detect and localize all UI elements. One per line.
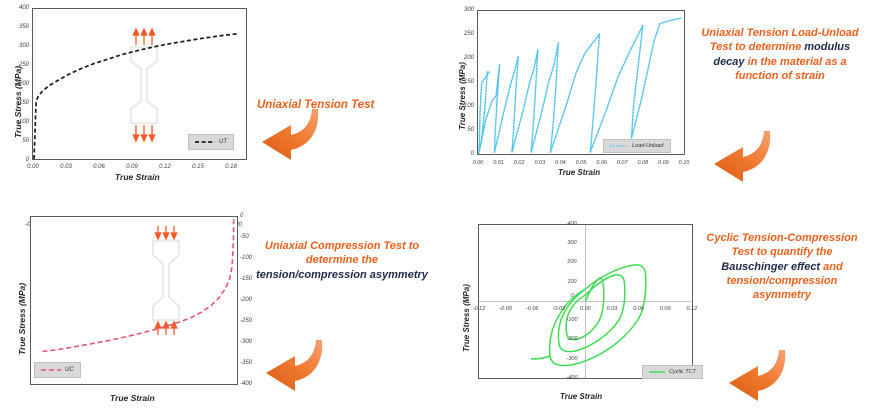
xtick: 0.18	[225, 164, 237, 170]
ytick: 200	[567, 259, 576, 265]
annot-part: tension/compression asymmetry	[256, 269, 428, 281]
ytick: 50	[460, 127, 474, 133]
ytick: 250	[15, 62, 29, 68]
annotation-bottom-left-text: Uniaxial Compression Test to determine t…	[252, 239, 432, 282]
panel-load-unload: True Stress (MPa) 300 250 200 150 100 50…	[440, 0, 870, 207]
ytick: 100	[460, 103, 474, 109]
legend-label: Cyclic TCT	[669, 369, 696, 375]
legend-line-swatch	[610, 144, 628, 148]
compression-specimen-icon	[153, 241, 179, 320]
legend-ut[interactable]: UT	[188, 134, 234, 150]
curved-arrow-icon	[262, 337, 328, 393]
xtick: 0.15	[192, 164, 204, 170]
ytick: -100	[566, 317, 577, 323]
ytick: -300	[566, 356, 577, 362]
panel-cyclic-tct: True Stress (MPa) 400 300 200 100 0 -100…	[440, 207, 870, 420]
ytick: -50	[240, 234, 249, 240]
xtick: 0.09	[658, 160, 669, 166]
ytick: 200	[460, 55, 474, 61]
ytick: 50	[15, 138, 29, 144]
legend-cyclic[interactable]: Cyclic TCT	[642, 365, 703, 379]
xtick: 0.05	[576, 160, 587, 166]
ytick: 300	[460, 7, 474, 13]
plot-area-top-right	[477, 10, 685, 155]
xlabel-bottom-right: True Strain	[560, 392, 602, 401]
ytick: -150	[240, 276, 252, 282]
xtick: 0.09	[126, 164, 138, 170]
uc-curve-svg	[31, 217, 237, 384]
ytick: 150	[460, 79, 474, 85]
legend-label: UC	[65, 367, 74, 373]
xlabel-top-right: True Strain	[558, 168, 600, 177]
legend-load-unload[interactable]: Load-Unload	[603, 139, 671, 153]
xtick: 0.06	[596, 160, 607, 166]
ytick: 0	[460, 151, 474, 157]
ytick: -100	[240, 255, 252, 261]
xtick: 0.12	[686, 306, 697, 312]
ytick: -350	[240, 360, 252, 366]
xtick: -0.12	[473, 306, 486, 312]
xtick: 0.02	[514, 160, 525, 166]
ytick: -400	[566, 375, 577, 381]
annotation-top-right: Uniaxial Tension Load-Unload Test to det…	[696, 26, 864, 83]
plot-area-bottom-left	[30, 216, 238, 385]
ytick: -400	[240, 381, 252, 387]
xtick: 0.06	[93, 164, 105, 170]
ytick: 300	[15, 43, 29, 49]
xtick: 0.00	[580, 306, 591, 312]
xtick: 0.09	[660, 306, 671, 312]
xtick: 0.06	[633, 306, 644, 312]
xtick: -0.03	[553, 306, 566, 312]
curved-arrow-icon	[258, 106, 324, 162]
annot-part: to determine	[735, 41, 804, 53]
xtick: 0.10	[679, 160, 690, 166]
legend-label: Load-Unload	[632, 143, 664, 149]
xtick: -0.06	[526, 306, 539, 312]
ytick: -300	[240, 339, 252, 345]
panel-uniaxial-compression: True Stress (MPa) -0.12 -0.09 -0.06 -0.0…	[0, 207, 440, 420]
ytick: -200	[240, 297, 252, 303]
legend-uc[interactable]: UC	[34, 362, 81, 378]
ytick: 0	[15, 157, 29, 163]
annot-part: Uniaxial Compression Test	[265, 240, 409, 252]
ytick: 0	[240, 213, 243, 219]
ytick: 100	[567, 279, 576, 285]
xtick: 0.01	[493, 160, 504, 166]
xtick: 0.03	[534, 160, 545, 166]
ytick: 0	[570, 293, 573, 299]
legend-line-swatch	[41, 368, 61, 372]
xtick: 0.08	[637, 160, 648, 166]
curved-arrow-icon	[710, 128, 776, 184]
plot-area-bottom-right	[478, 224, 693, 379]
ytick: 200	[15, 81, 29, 87]
ytick: -200	[566, 336, 577, 342]
loop-tail	[531, 356, 550, 359]
ytick: 100	[15, 119, 29, 125]
cyclic-curve-svg	[479, 225, 692, 378]
xtick: 0.03	[60, 164, 72, 170]
ytick: -250	[240, 318, 252, 324]
xlabel-top-left: True Strain	[115, 172, 160, 182]
load-unload-curve-svg	[478, 11, 684, 154]
annot-part: in the material as a function of strain	[735, 56, 847, 82]
ytick: 400	[567, 221, 576, 227]
curved-arrow-icon	[725, 347, 791, 403]
xtick: 0.07	[617, 160, 628, 166]
ytick: 400	[15, 5, 29, 11]
ylabel-bottom-left: True Stress (MPa)	[17, 283, 27, 355]
legend-line-swatch	[649, 370, 665, 374]
ytick: 300	[567, 240, 576, 246]
tension-specimen-icon	[131, 47, 157, 123]
xtick: 0.00	[27, 164, 39, 170]
ytick: 250	[460, 31, 474, 37]
ylabel-bottom-right: True Stress (MPa)	[462, 284, 471, 352]
xtick: -0.09	[499, 306, 512, 312]
annotation-bottom-right: Cyclic Tension-Compression Test to quant…	[698, 231, 866, 302]
xtick: 0.04	[555, 160, 566, 166]
xlabel-bottom-left: True Strain	[110, 393, 155, 403]
ytick: 150	[15, 100, 29, 106]
xtick: 0.00	[473, 160, 484, 166]
legend-label: UT	[219, 139, 227, 145]
ylabel-top-right: True Stress (MPa)	[458, 62, 467, 130]
xtick: 0.03	[607, 306, 618, 312]
annot-part: to quantify the	[757, 246, 833, 258]
legend-line-swatch	[195, 140, 215, 144]
xtick: 0.12	[159, 164, 171, 170]
ytick: 350	[15, 24, 29, 30]
panel-uniaxial-tension: True Stress (MPa) 400 350 300 250 200 15…	[0, 0, 440, 207]
annot-part: Bauschinger effect	[721, 261, 823, 273]
